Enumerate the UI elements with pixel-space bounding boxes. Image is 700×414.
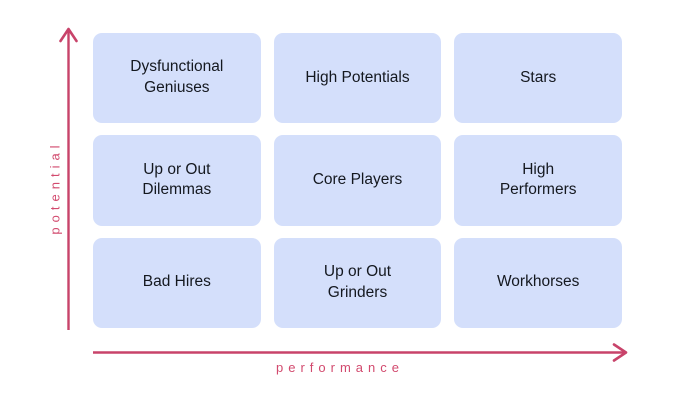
matrix-cell[interactable]: Dysfunctional Geniuses (93, 33, 261, 123)
matrix-cell[interactable]: Up or Out Dilemmas (93, 135, 261, 225)
matrix-grid: Dysfunctional Geniuses High Potentials S… (93, 33, 622, 328)
y-axis-label: potential (48, 128, 63, 248)
vertical-axis-arrow (61, 29, 77, 330)
x-axis-label: performance (276, 360, 404, 375)
matrix-cell[interactable]: Bad Hires (93, 238, 261, 328)
matrix-cell[interactable]: Core Players (274, 135, 442, 225)
matrix-cell[interactable]: Stars (454, 33, 622, 123)
horizontal-axis-arrow (93, 345, 626, 361)
matrix-cell[interactable]: Up or Out Grinders (274, 238, 442, 328)
matrix-cell[interactable]: High Potentials (274, 33, 442, 123)
matrix-cell[interactable]: High Performers (454, 135, 622, 225)
nine-box-matrix-canvas: potential performance Dysfunctional Geni… (0, 0, 700, 414)
matrix-cell[interactable]: Workhorses (454, 238, 622, 328)
